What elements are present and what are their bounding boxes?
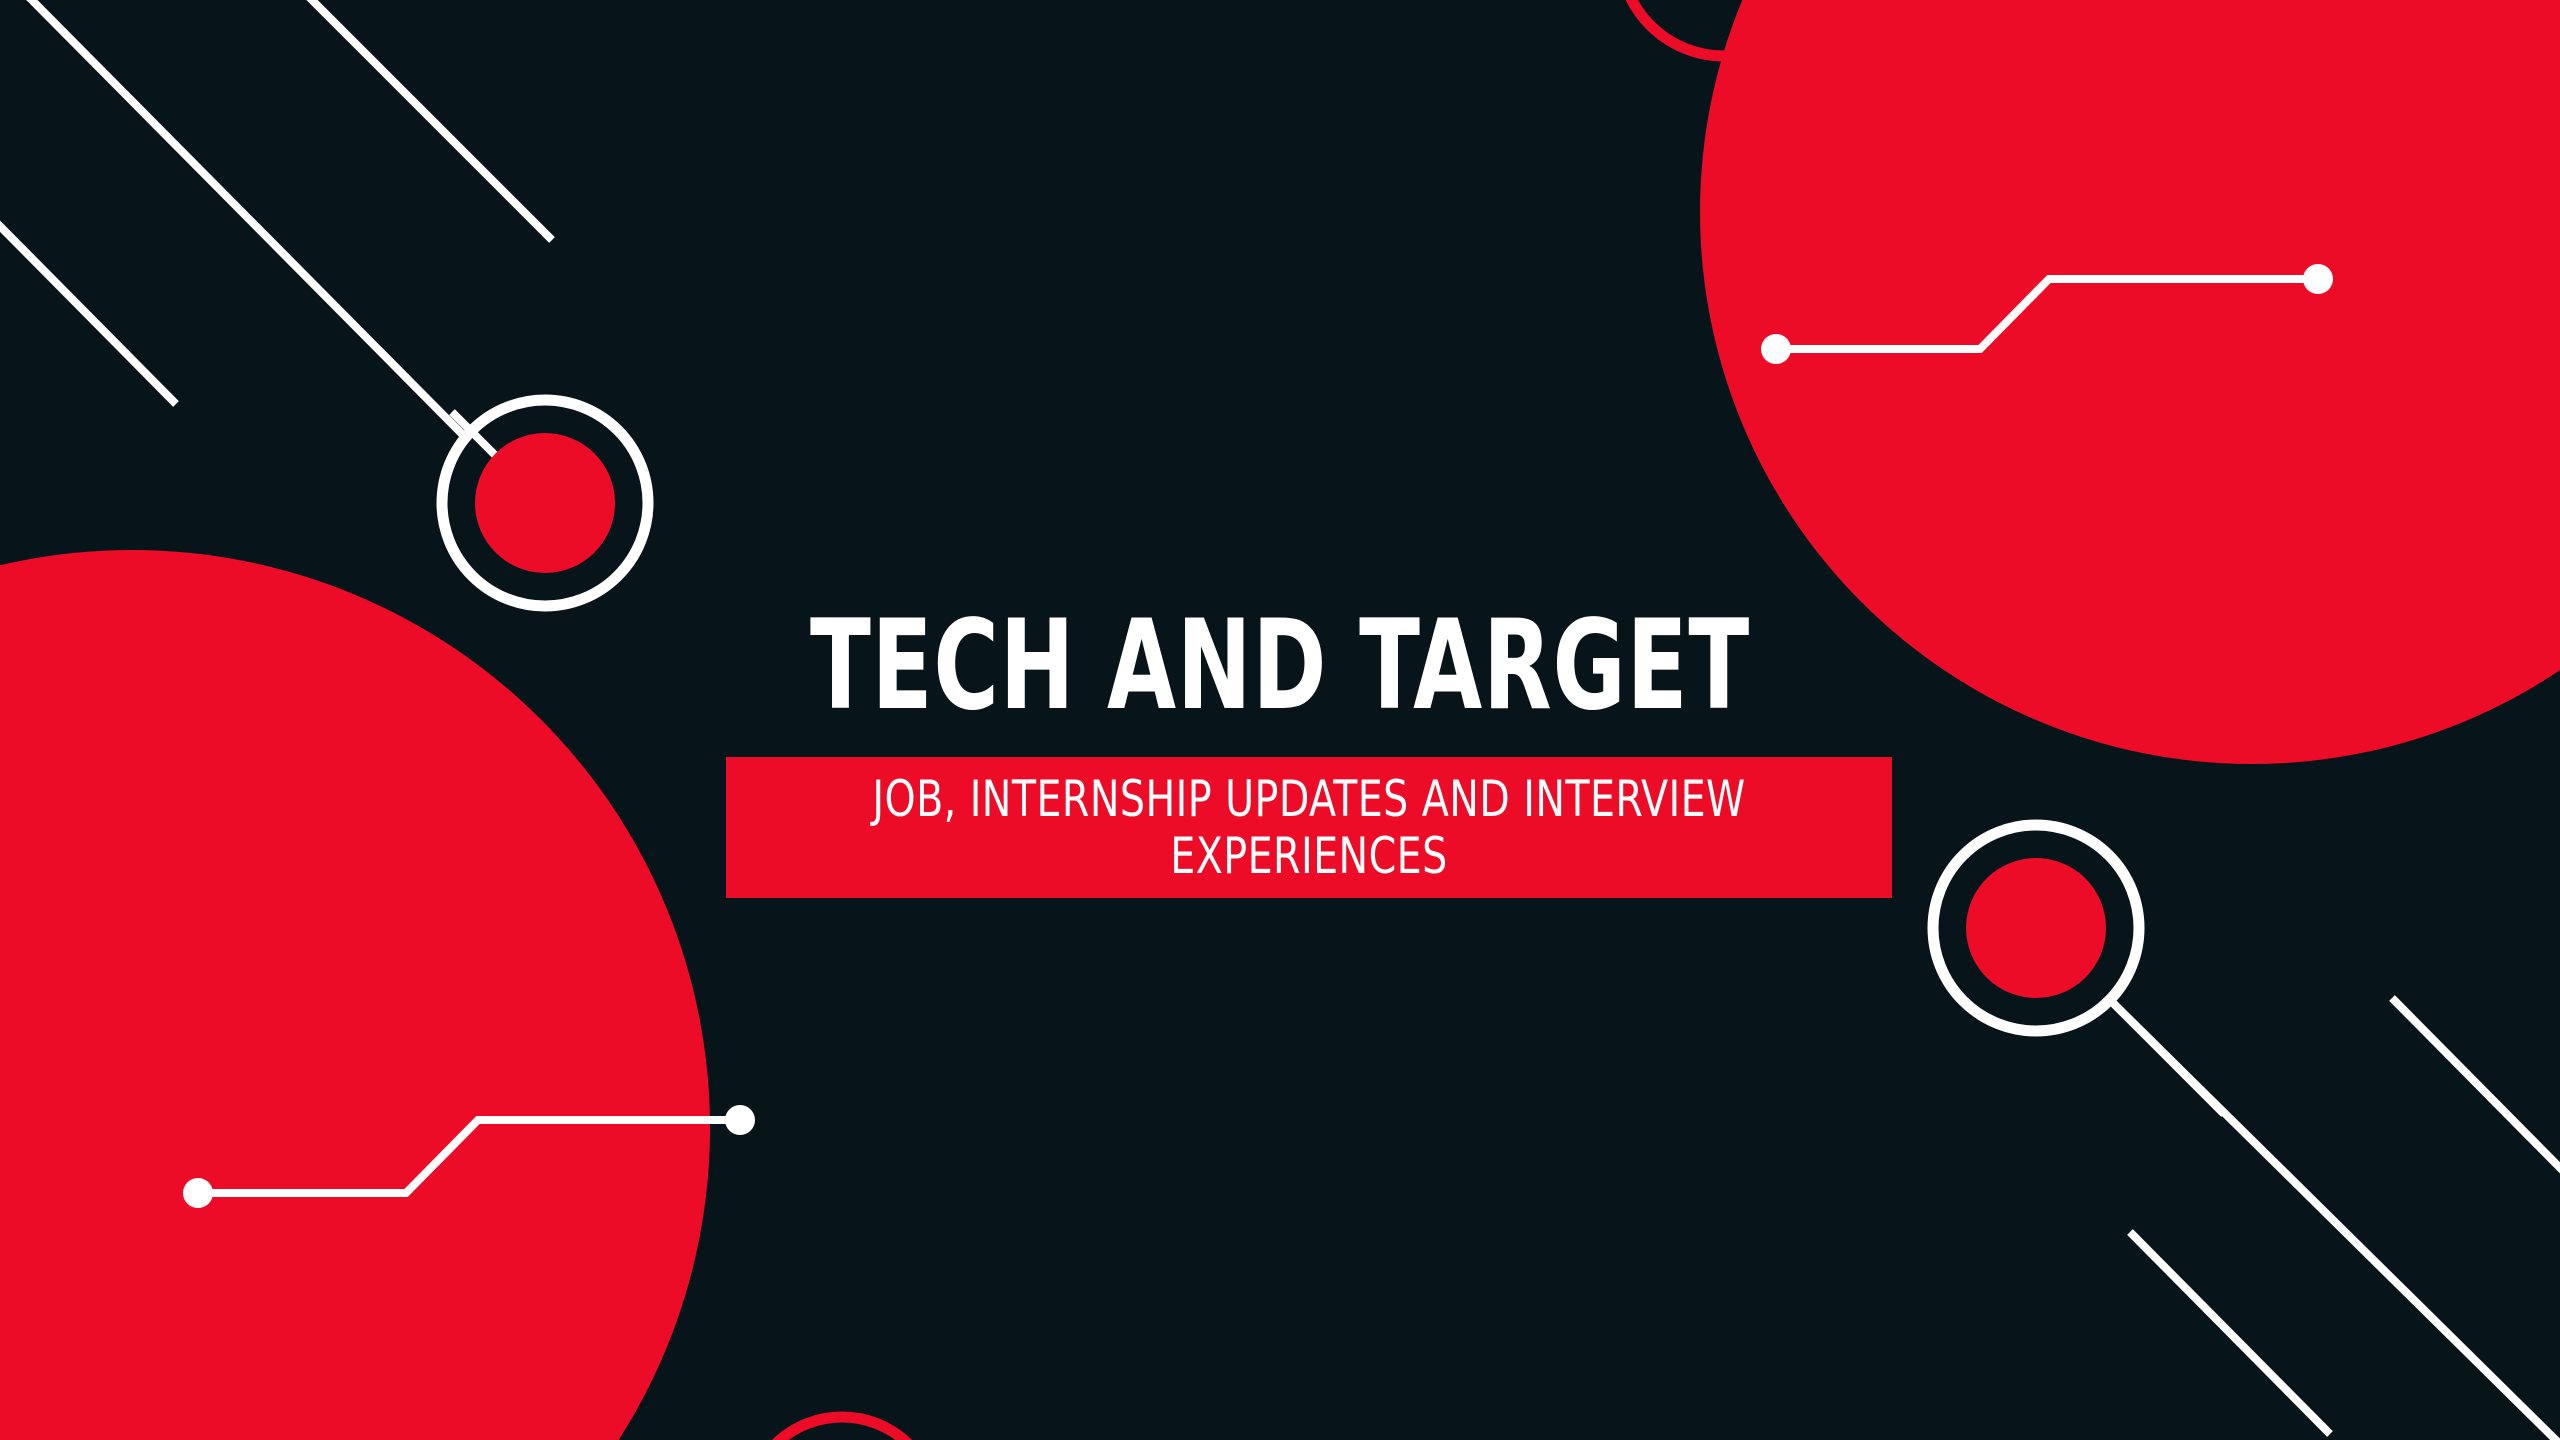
background-artwork (0, 0, 2560, 1440)
step-connector-dot-right-top-right (2303, 264, 2333, 294)
step-connector-dot-left-top-right (1761, 334, 1791, 364)
ring-inner-dot-right (1966, 858, 2106, 998)
ring-inner-dot-left (475, 433, 615, 573)
step-connector-dot-left-bottom-left (183, 1178, 213, 1208)
step-connector-dot-right-bottom-left (725, 1105, 755, 1135)
banner-canvas: TECH AND TARGET JOB, INTERNSHIP UPDATES … (0, 0, 2560, 1440)
